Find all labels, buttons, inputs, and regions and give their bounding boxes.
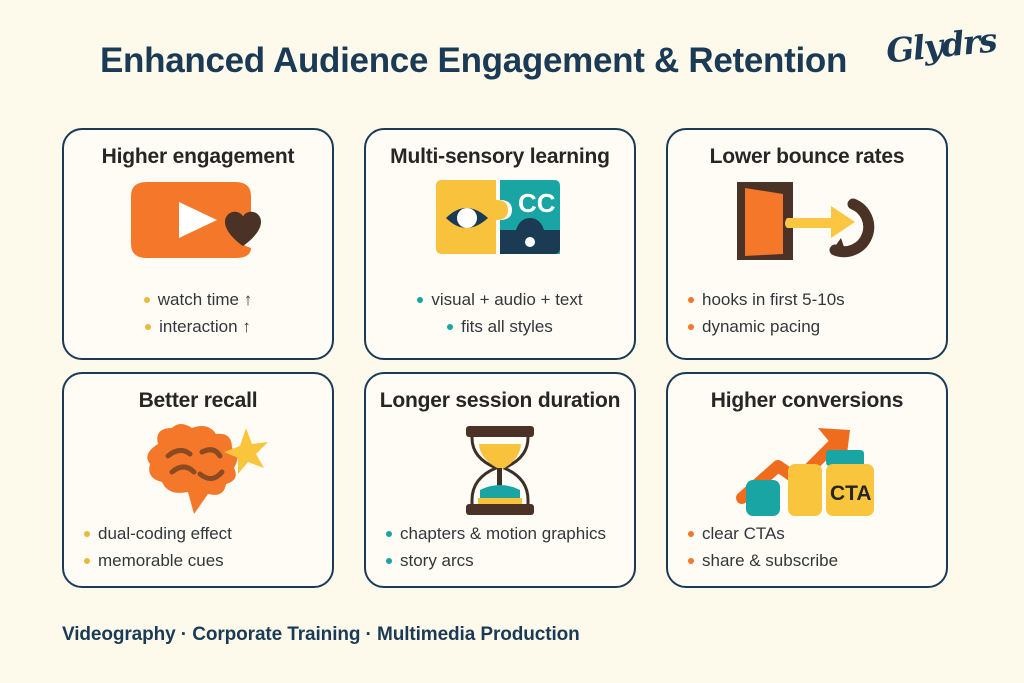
list-item: hooks in first 5-10s [688, 286, 936, 313]
bullet-text: story arcs [400, 551, 474, 570]
card-title: Lower bounce rates [710, 142, 905, 172]
list-item: interaction ↑ [74, 313, 322, 340]
list-item: visual + audio + text [376, 286, 624, 313]
bullet-text: hooks in first 5-10s [702, 290, 845, 309]
list-item: dynamic pacing [688, 313, 936, 340]
bullet-dot [84, 558, 90, 564]
list-item: memorable cues [84, 547, 322, 574]
page-title: Enhanced Audience Engagement & Retention [100, 36, 847, 86]
bullet-text: fits all styles [461, 317, 553, 336]
brain-star-icon [128, 422, 268, 516]
footer-services: Videography · Corporate Training · Multi… [62, 624, 580, 646]
bullet-list: chapters & motion graphics story arcs [366, 520, 634, 574]
card-title: Better recall [139, 386, 258, 416]
bullet-dot [386, 558, 392, 564]
bullet-dot [144, 297, 150, 303]
growth-chart-cta-icon: CTA [734, 422, 880, 518]
card-better-recall[interactable]: Better recall dual-coding effect memorab… [62, 372, 334, 588]
bullet-text: dual-coding effect [98, 524, 232, 543]
cta-label: CTA [830, 482, 872, 505]
bullet-list: dual-coding effect memorable cues [64, 520, 332, 574]
bullet-dot [688, 324, 694, 330]
list-item: story arcs [386, 547, 624, 574]
list-item: watch time ↑ [74, 286, 322, 313]
list-item: clear CTAs [688, 520, 936, 547]
bullet-text: clear CTAs [702, 524, 785, 543]
hourglass-icon [452, 422, 548, 518]
bullet-text: share & subscribe [702, 551, 838, 570]
bullet-dot [417, 297, 423, 303]
bullet-list: visual + audio + text fits all styles [366, 286, 634, 340]
bullet-dot [688, 558, 694, 564]
brand-logo: Glydrs [884, 20, 997, 70]
card-title: Higher engagement [102, 142, 295, 172]
card-title: Longer session duration [380, 386, 620, 416]
puzzle-eye-cc-icon: CC [430, 178, 570, 262]
card-title: Higher conversions [711, 386, 903, 416]
bullet-text: chapters & motion graphics [400, 524, 606, 543]
bullet-text: visual + audio + text [431, 290, 582, 309]
svg-text:CC: CC [518, 188, 556, 218]
list-item: chapters & motion graphics [386, 520, 624, 547]
list-item: share & subscribe [688, 547, 936, 574]
bullet-text: memorable cues [98, 551, 224, 570]
bullet-dot [145, 324, 151, 330]
card-title: Multi-sensory learning [390, 142, 610, 172]
bullet-dot [84, 531, 90, 537]
bullet-dot [688, 531, 694, 537]
bullet-list: watch time ↑ interaction ↑ [64, 286, 332, 340]
card-multi-sensory-learning[interactable]: Multi-sensory learning CC [364, 128, 636, 360]
card-higher-engagement[interactable]: Higher engagement watch time ↑ interacti… [62, 128, 334, 360]
bullet-dot [386, 531, 392, 537]
list-item: dual-coding effect [84, 520, 322, 547]
card-lower-bounce-rates[interactable]: Lower bounce rates hooks in first 5-10s [666, 128, 948, 360]
bullet-text: watch time ↑ [158, 290, 252, 309]
bullet-dot [447, 324, 453, 330]
list-item: fits all styles [376, 313, 624, 340]
bullet-text: interaction ↑ [159, 317, 251, 336]
bullet-list: clear CTAs share & subscribe [668, 520, 946, 574]
header: Enhanced Audience Engagement & Retention… [0, 36, 1024, 110]
bullet-dot [688, 297, 694, 303]
bullet-text: dynamic pacing [702, 317, 820, 336]
card-higher-conversions[interactable]: Higher conversions CTA clear CTAs [666, 372, 948, 588]
benefit-card-grid: Higher engagement watch time ↑ interacti… [62, 128, 952, 588]
play-heart-icon [123, 178, 273, 262]
door-exit-arrow-icon [727, 178, 887, 264]
card-longer-session-duration[interactable]: Longer session duration chapters & motio… [364, 372, 636, 588]
bullet-list: hooks in first 5-10s dynamic pacing [668, 286, 946, 340]
infographic-page: Enhanced Audience Engagement & Retention… [0, 0, 1024, 683]
